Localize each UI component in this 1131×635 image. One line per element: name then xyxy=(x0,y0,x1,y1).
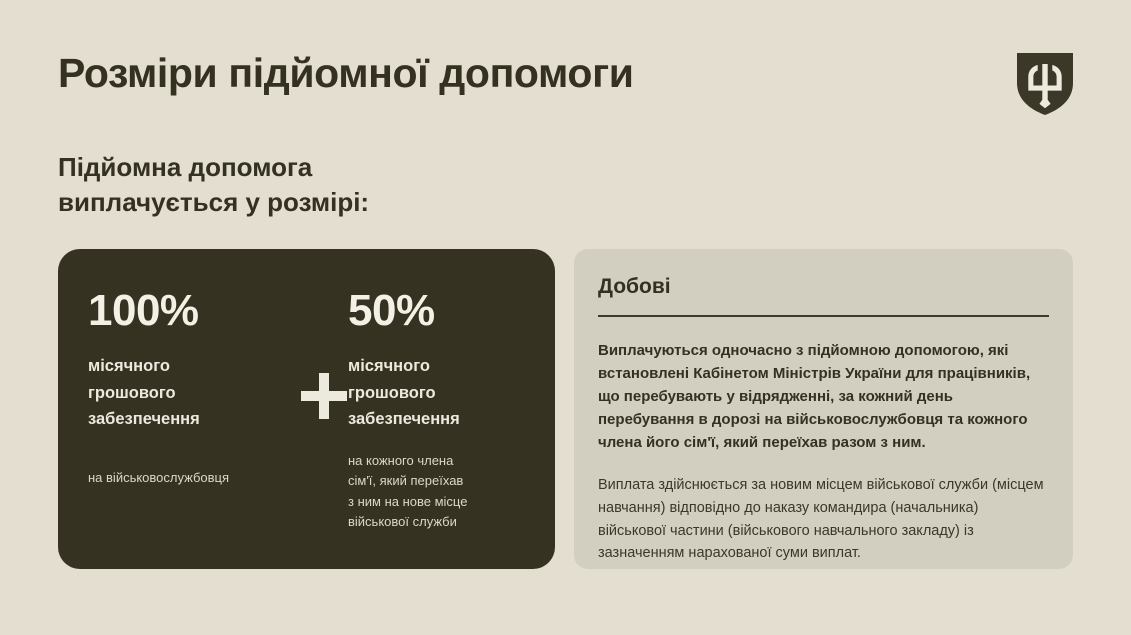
panel-divider xyxy=(598,315,1049,317)
subtitle-line-2: виплачується у розмірі: xyxy=(58,185,369,220)
percent-description-100: місячного грошового забезпечення xyxy=(88,353,278,433)
allowance-column-50: 50% місячного грошового забезпечення на … xyxy=(348,289,533,532)
page-title: Розміри підйомної допомоги xyxy=(58,50,634,97)
percent-value-50: 50% xyxy=(348,289,533,333)
slide-root: Розміри підйомної допомоги Підйомна допо… xyxy=(0,0,1131,635)
percent-note-50: на кожного члена сім'ї, який переїхав з … xyxy=(348,451,533,532)
allowance-columns: 100% місячного грошового забезпечення на… xyxy=(58,249,555,569)
allowance-column-100: 100% місячного грошового забезпечення на… xyxy=(88,289,278,488)
percent-description-50: місячного грошового забезпечення xyxy=(348,353,533,433)
subtitle-line-1: Підйомна допомога xyxy=(58,150,369,185)
plus-icon xyxy=(301,373,347,419)
panel-title: Добові xyxy=(598,275,1049,299)
per-diem-panel: Добові Виплачуються одночасно з підйомно… xyxy=(574,249,1073,569)
percent-value-100: 100% xyxy=(88,289,278,333)
percent-note-100: на військовослужбовця xyxy=(88,468,278,488)
allowance-amounts-card: 100% місячного грошового забезпечення на… xyxy=(58,249,555,569)
panel-paragraph-secondary: Виплата здійснюється за новим місцем вій… xyxy=(598,474,1049,564)
ukrainian-armed-forces-trident-shield-icon xyxy=(1017,53,1073,115)
panel-paragraph-primary: Виплачуються одночасно з підйомною допом… xyxy=(598,339,1049,454)
subtitle: Підйомна допомога виплачується у розмірі… xyxy=(58,150,369,220)
